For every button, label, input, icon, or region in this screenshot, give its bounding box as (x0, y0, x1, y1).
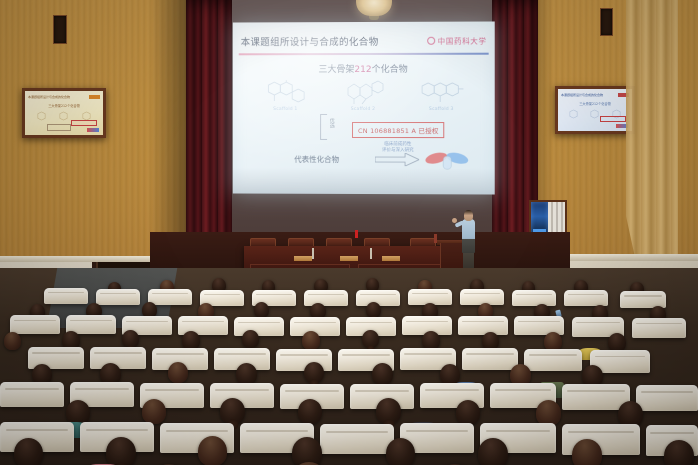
chemical-structure-icon (568, 109, 579, 119)
audience-head (386, 438, 415, 465)
right-arrow-icon (375, 153, 419, 166)
audience-head (14, 438, 43, 465)
scaffold-label-3: Scaffold 3 (412, 107, 470, 112)
selection-bracket (320, 114, 327, 140)
left-monitor-logo (89, 95, 100, 99)
right-monitor-screen: 本课题组所设计与合成的化合物 三大骨架212个化合物 (558, 89, 632, 131)
slide-subtitle: 三大骨架212个化合物 (233, 62, 495, 75)
left-monitor-screen: 本课题组所设计与合成的化合物 三大骨架212个化合物 (25, 91, 103, 135)
seat-cover (96, 289, 140, 305)
seat-cover (10, 315, 60, 334)
screen-bottom-shading (233, 168, 495, 195)
table-nameplate (382, 256, 400, 261)
table-flag (355, 230, 358, 238)
left-wall-monitor: 本课题组所设计与合成的化合物 三大骨架212个化合物 (22, 88, 106, 138)
left-monitor-title: 本课题组所设计与合成的化合物 (28, 95, 70, 99)
audience-head (292, 437, 322, 465)
right-monitor-header: 本课题组所设计与合成的化合物 (561, 92, 629, 97)
table-nameplate (340, 256, 358, 261)
presenter-torso (462, 219, 475, 253)
audience-head (142, 399, 166, 424)
right-monitor-patent-box (600, 116, 626, 122)
seat-cover (564, 290, 608, 306)
audience-head (220, 398, 245, 424)
table-nameplate (294, 256, 312, 261)
seat-cover (632, 318, 686, 338)
patent-callout: CN 106881851 A 已授权 (352, 122, 445, 138)
university-logo-text: 中国药科大学 (438, 35, 487, 46)
university-seal-icon (428, 37, 436, 45)
right-wall-monitor: 本课题组所设计与合成的化合物 三大骨架212个化合物 (555, 86, 635, 134)
slide-subtitle-count: 212 (354, 65, 371, 75)
representative-compound-label: 代表性化合物 (294, 154, 339, 165)
audience-head (456, 400, 480, 425)
slide-header: 本课题组所设计与合成的化合物 中国药科大学 (233, 30, 495, 53)
chemical-structure-icon (589, 109, 600, 119)
scaffold-structure-3: Scaffold 3 (412, 80, 470, 112)
audience-head (572, 439, 602, 465)
seat-cover (512, 290, 556, 306)
arrow-annotation: 临床前成药性 评价与深入研究 (382, 142, 414, 154)
audience-head (4, 332, 21, 350)
lecture-hall-photo: 本课题组所设计与合成的化合物 中国药科大学 三大骨架212个化合物 (0, 0, 698, 465)
audience-head (302, 331, 320, 350)
audience-head (106, 437, 136, 465)
seat-cover (462, 348, 518, 370)
seat-cover (636, 385, 698, 411)
audience-head (376, 398, 401, 424)
audience-head (198, 436, 227, 465)
right-monitor-subtitle: 三大骨架212个化合物 (558, 101, 632, 106)
left-monitor-subtitle: 三大骨架212个化合物 (25, 103, 103, 108)
audience-head (122, 330, 139, 348)
audience-head (372, 363, 393, 385)
left-monitor-pills (87, 128, 99, 132)
right-monitor-title: 本课题组所设计与合成的化合物 (561, 93, 603, 97)
slide-subtitle-suffix: 个化合物 (372, 65, 408, 75)
left-monitor-label-box (47, 124, 71, 131)
chemical-structure-icon (416, 80, 466, 106)
seat-cover (0, 382, 64, 407)
chemical-structure-icon (338, 80, 388, 106)
chemical-structure-icon (58, 111, 69, 121)
table-microphone (312, 248, 314, 259)
audience-head (362, 330, 379, 348)
seat-cover (148, 289, 192, 305)
seat-cover (304, 290, 348, 306)
seat-cover (320, 424, 394, 454)
slide-subtitle-prefix: 三大骨架 (318, 65, 354, 75)
scaffold-label-2: Scaffold 2 (334, 107, 392, 112)
audience-head (236, 363, 257, 385)
audience-head (168, 362, 188, 383)
audience-head (664, 440, 694, 465)
chemical-structure-icon (36, 111, 47, 121)
scaffold-structure-2: Scaffold 2 (334, 80, 392, 112)
seat-cover (44, 288, 88, 304)
left-monitor-patent-box (71, 120, 97, 126)
audience-head (242, 330, 259, 348)
audience-head (304, 362, 324, 383)
scaffold-structure-1: Scaffold 1 (257, 80, 315, 112)
slide-title: 本课题组所设计与合成的化合物 (241, 34, 379, 48)
scaffold-label-1: Scaffold 1 (257, 107, 315, 112)
seat-cover (234, 317, 284, 336)
chemical-structure-icon (261, 80, 311, 106)
presenter-head (464, 210, 473, 221)
seat-cover (458, 316, 508, 335)
projection-screen: 本课题组所设计与合成的化合物 中国药科大学 三大骨架212个化合物 (233, 21, 495, 194)
seat-cover (524, 349, 582, 371)
left-wall-shadow (150, 0, 190, 262)
audience-head (298, 399, 322, 424)
left-monitor-header: 本课题组所设计与合成的化合物 (28, 94, 100, 99)
audience-head (254, 302, 269, 318)
wall-vent-left (53, 15, 67, 44)
stage-curtain-left (186, 0, 232, 268)
slide-title-divider (239, 53, 489, 55)
scaffold-row: Scaffold 1 Scaffold 2 (247, 80, 481, 112)
audience-head (366, 302, 381, 318)
presenter-hand (452, 218, 457, 223)
university-logo: 中国药科大学 (428, 35, 487, 46)
wall-vent-right (600, 8, 613, 36)
selection-label: 优选 (328, 118, 334, 128)
audience-head (478, 438, 508, 465)
table-microphone (370, 248, 372, 259)
audience-area (0, 268, 698, 465)
